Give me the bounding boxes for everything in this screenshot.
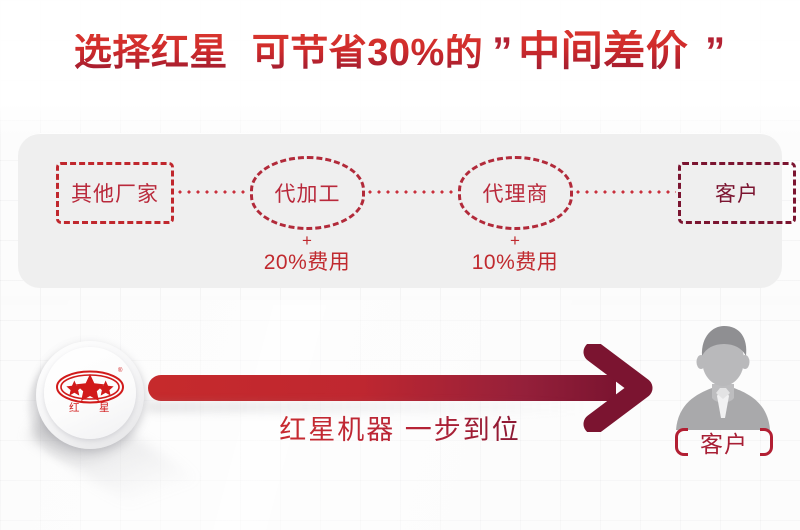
headline-part-2: 可节省30%的 bbox=[252, 34, 484, 72]
fee-annotation-oem: + 20%费用 bbox=[227, 233, 387, 277]
middleman-flow-card: 其他厂家 代加工 代理商 客户 + 20%费用 + 10%费用 bbox=[18, 133, 782, 288]
fee-plus-sign: + bbox=[435, 233, 595, 249]
hongxing-logo-badge: ® 红 星 bbox=[36, 341, 144, 449]
fee-amount: 10%费用 bbox=[435, 249, 595, 277]
flow-node-label: 客户 bbox=[715, 178, 759, 208]
arrow-shaft bbox=[148, 375, 616, 401]
customer-avatar-silhouette-icon bbox=[668, 322, 778, 430]
fee-amount: 20%费用 bbox=[227, 249, 387, 277]
flow-node-agent: 代理商 bbox=[458, 156, 573, 230]
flow-node-customer: 客户 bbox=[678, 162, 796, 224]
fee-plus-sign: + bbox=[227, 233, 387, 249]
flow-node-label: 其他厂家 bbox=[71, 178, 159, 208]
bracket-left-icon bbox=[675, 428, 688, 456]
registered-mark: ® bbox=[118, 367, 123, 374]
connector-dots-1 bbox=[178, 190, 248, 194]
quote-open-mark: ” bbox=[492, 32, 509, 72]
promo-banner: 选择红星 可节省30%的 ” 中间差价 ” 其他厂家 代加工 代理商 客户 + … bbox=[0, 0, 800, 530]
headline-part-1: 选择红星 bbox=[74, 34, 228, 72]
headline-emphasis: 中间差价 bbox=[518, 30, 688, 72]
connector-dots-3 bbox=[576, 190, 676, 194]
connector-dots-2 bbox=[368, 190, 456, 194]
fee-annotation-agent: + 10%费用 bbox=[435, 233, 595, 277]
arrow-tagline: 红星机器 一步到位 bbox=[245, 408, 555, 447]
arrow-head-chevron-icon bbox=[578, 344, 668, 432]
logo-brand-left: 红 bbox=[69, 401, 80, 414]
logo-brand-right: 星 bbox=[99, 402, 110, 414]
flow-node-oem-processing: 代加工 bbox=[250, 156, 365, 230]
quote-close-mark: ” bbox=[705, 32, 722, 72]
headline: 选择红星 可节省30%的 ” 中间差价 ” bbox=[0, 30, 800, 72]
flow-node-label: 代加工 bbox=[275, 178, 341, 208]
flow-node-other-manufacturer: 其他厂家 bbox=[56, 162, 174, 224]
customer-tag: 客户 bbox=[648, 425, 800, 459]
bracket-right-icon bbox=[760, 428, 773, 456]
hongxing-star-emblem-icon: ® 红 星 bbox=[44, 347, 136, 439]
flow-node-label: 代理商 bbox=[483, 178, 549, 208]
customer-tag-label: 客户 bbox=[700, 425, 748, 459]
